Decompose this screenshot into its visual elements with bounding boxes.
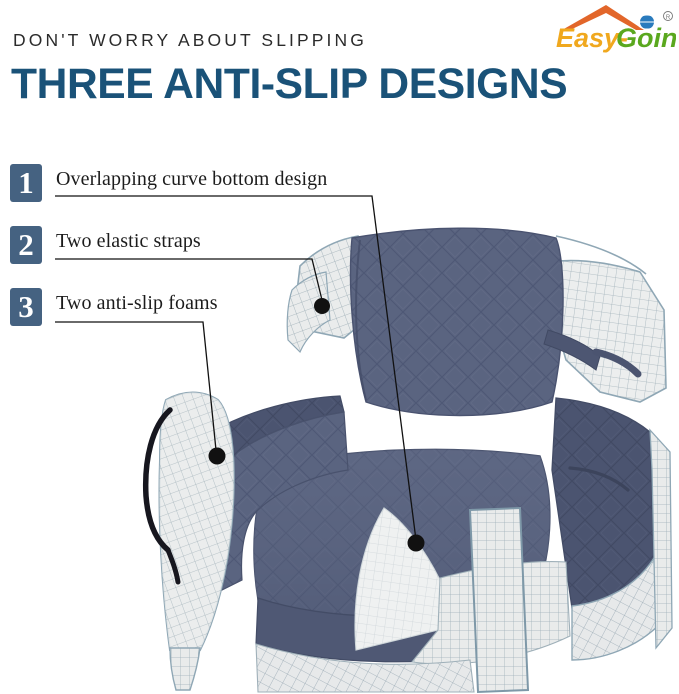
left-flap-bottom (170, 648, 200, 690)
product-infographic: Easy- Going R DON'T WORRY ABOUT SLIPPING… (0, 0, 679, 694)
center-hanging-panel (470, 508, 528, 692)
chair-illustration (0, 0, 679, 694)
callout-dot-2 (314, 298, 330, 314)
left-arm-flap-grid (159, 393, 233, 651)
chair-group (146, 228, 672, 692)
leader-line-2 (55, 259, 322, 300)
callout-dot-1 (408, 535, 425, 552)
chair-back-right-underside (548, 260, 666, 402)
callout-dot-3 (209, 448, 226, 465)
chair-back-cover (351, 228, 564, 415)
